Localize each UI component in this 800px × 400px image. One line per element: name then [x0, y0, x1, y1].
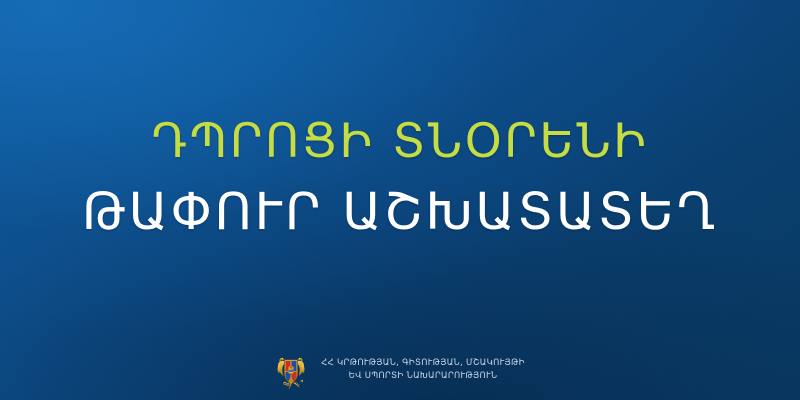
- announcement-banner: ԴՊՐՈՑԻ ՏՆՕՐԵՆԻ ԹԱՓՈՒՐ ԱՇԽԱՏԱՏԵՂ: [0, 0, 800, 400]
- ministry-lockup: ՀՀ ԿՐԹՈՒԹՅԱՆ, ԳԻՏՈՒԹՅԱՆ, ՄՇԱԿՈՒՅԹԻ ԵՎ ՍՊ…: [0, 350, 800, 390]
- headline-block: ԴՊՐՈՑԻ ՏՆՕՐԵՆԻ ԹԱՓՈՒՐ ԱՇԽԱՏԱՏԵՂ: [0, 118, 800, 238]
- headline-secondary: ԹԱՓՈՒՐ ԱՇԽԱՏԱՏԵՂ: [0, 187, 800, 238]
- armenia-coat-of-arms-icon: [275, 350, 307, 390]
- ministry-name: ՀՀ ԿՐԹՈՒԹՅԱՆ, ԳԻՏՈՒԹՅԱՆ, ՄՇԱԿՈՒՅԹԻ ԵՎ ՍՊ…: [321, 358, 525, 381]
- ministry-name-line-2: ԵՎ ՍՊՈՐՏԻ ՆԱԽԱՐԱՐՈՒԹՅՈՒՆ: [349, 371, 498, 382]
- ministry-name-line-1: ՀՀ ԿՐԹՈՒԹՅԱՆ, ԳԻՏՈՒԹՅԱՆ, ՄՇԱԿՈՒՅԹԻ: [321, 358, 525, 369]
- headline-primary: ԴՊՐՈՑԻ ՏՆՕՐԵՆԻ: [0, 118, 800, 165]
